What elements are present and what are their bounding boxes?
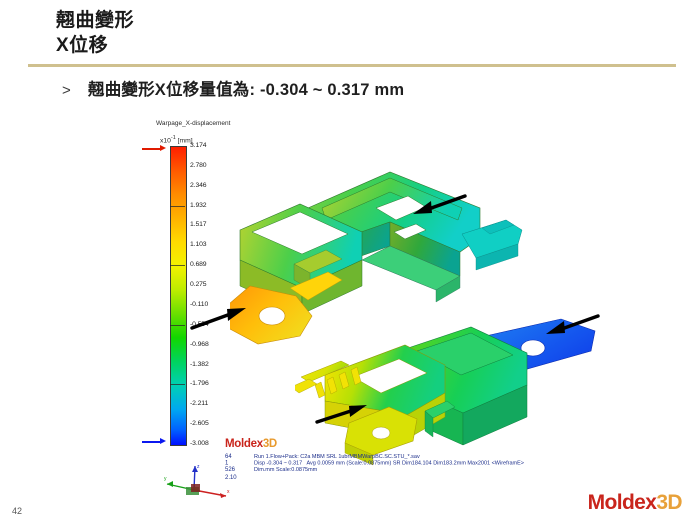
legend-tick: -3.008 — [190, 440, 209, 447]
footer-brand-secondary: 3D — [656, 491, 682, 514]
legend-tick: 1.932 — [190, 202, 206, 209]
legend-tick: 0.275 — [190, 281, 206, 288]
footer-brand-primary: Moldex — [588, 491, 657, 514]
axis-triad-icon: x y z — [164, 460, 234, 502]
canvas-brand-primary: Moldex — [225, 438, 263, 450]
page-title: 翹曲變形 X位移 — [56, 8, 656, 58]
result-viewport: Warpage_X-displacement x10-1 [mm] 3.1742… — [130, 120, 630, 510]
slide-canvas: 翹曲變形 X位移 > 翹曲變形X位移量值為: -0.304 ~ 0.317 mm… — [0, 0, 700, 525]
annotation-arrow-4-icon — [315, 401, 373, 432]
page-title-line-2: X位移 — [56, 33, 656, 58]
bullet-marker-icon: > — [62, 82, 88, 99]
run-info-numbers: 64 1 526 2.10 — [225, 453, 237, 480]
legend-unit-prefix: x10 — [160, 137, 171, 145]
annotation-arrow-3-icon — [190, 306, 252, 337]
annotation-arrow-2-icon — [538, 312, 600, 343]
svg-text:z: z — [197, 464, 200, 470]
legend-tick: 1.103 — [190, 242, 206, 249]
page-title-line-1: 翹曲變形 — [56, 8, 656, 33]
legend-tick: -1.796 — [190, 381, 209, 388]
legend-tick: 0.689 — [190, 262, 206, 269]
page-number: 42 — [12, 506, 22, 516]
legend-segment-line — [170, 325, 185, 326]
legend-segment-line — [170, 206, 185, 207]
bullet-row: > 翹曲變形X位移量值為: -0.304 ~ 0.317 mm — [62, 76, 404, 100]
legend-title: Warpage_X-displacement — [156, 120, 230, 128]
legend-unit: x10-1 [mm] — [160, 134, 193, 145]
legend-tick: -2.211 — [190, 401, 208, 408]
legend-tick: -1.382 — [190, 361, 209, 368]
footer-brand-logo: Moldex3D — [588, 491, 682, 515]
svg-text:y: y — [164, 476, 167, 482]
canvas-brand-secondary: 3D — [263, 438, 277, 450]
legend-tick: 2.780 — [190, 162, 206, 169]
bullet-text: 翹曲變形X位移量值為: -0.304 ~ 0.317 mm — [88, 76, 404, 100]
legend-tick: -2.605 — [190, 420, 209, 427]
color-bar — [170, 146, 187, 446]
canvas-brand-logo: Moldex3D — [225, 438, 277, 450]
legend-min-marker-icon — [142, 438, 166, 445]
legend-tick: 3.174 — [190, 142, 206, 149]
title-divider — [28, 64, 676, 67]
legend-tick: 1.517 — [190, 222, 206, 229]
run-info: 64 1 526 2.10 Run 1.Flow+Pack: C2a MBM S… — [225, 453, 465, 474]
run-info-lines: Run 1.Flow+Pack: C2a MBM SRL 1ubrMBMWarp… — [254, 453, 524, 473]
svg-text:x: x — [227, 489, 230, 495]
legend-segment-line — [170, 384, 185, 385]
legend-tick: 2.346 — [190, 182, 206, 189]
legend-max-marker-icon — [142, 145, 166, 152]
legend-segment-line — [170, 265, 185, 266]
annotation-arrow-1-icon — [405, 192, 467, 223]
legend-tick: -0.968 — [190, 341, 209, 348]
legend-unit-exponent: -1 — [171, 134, 176, 140]
